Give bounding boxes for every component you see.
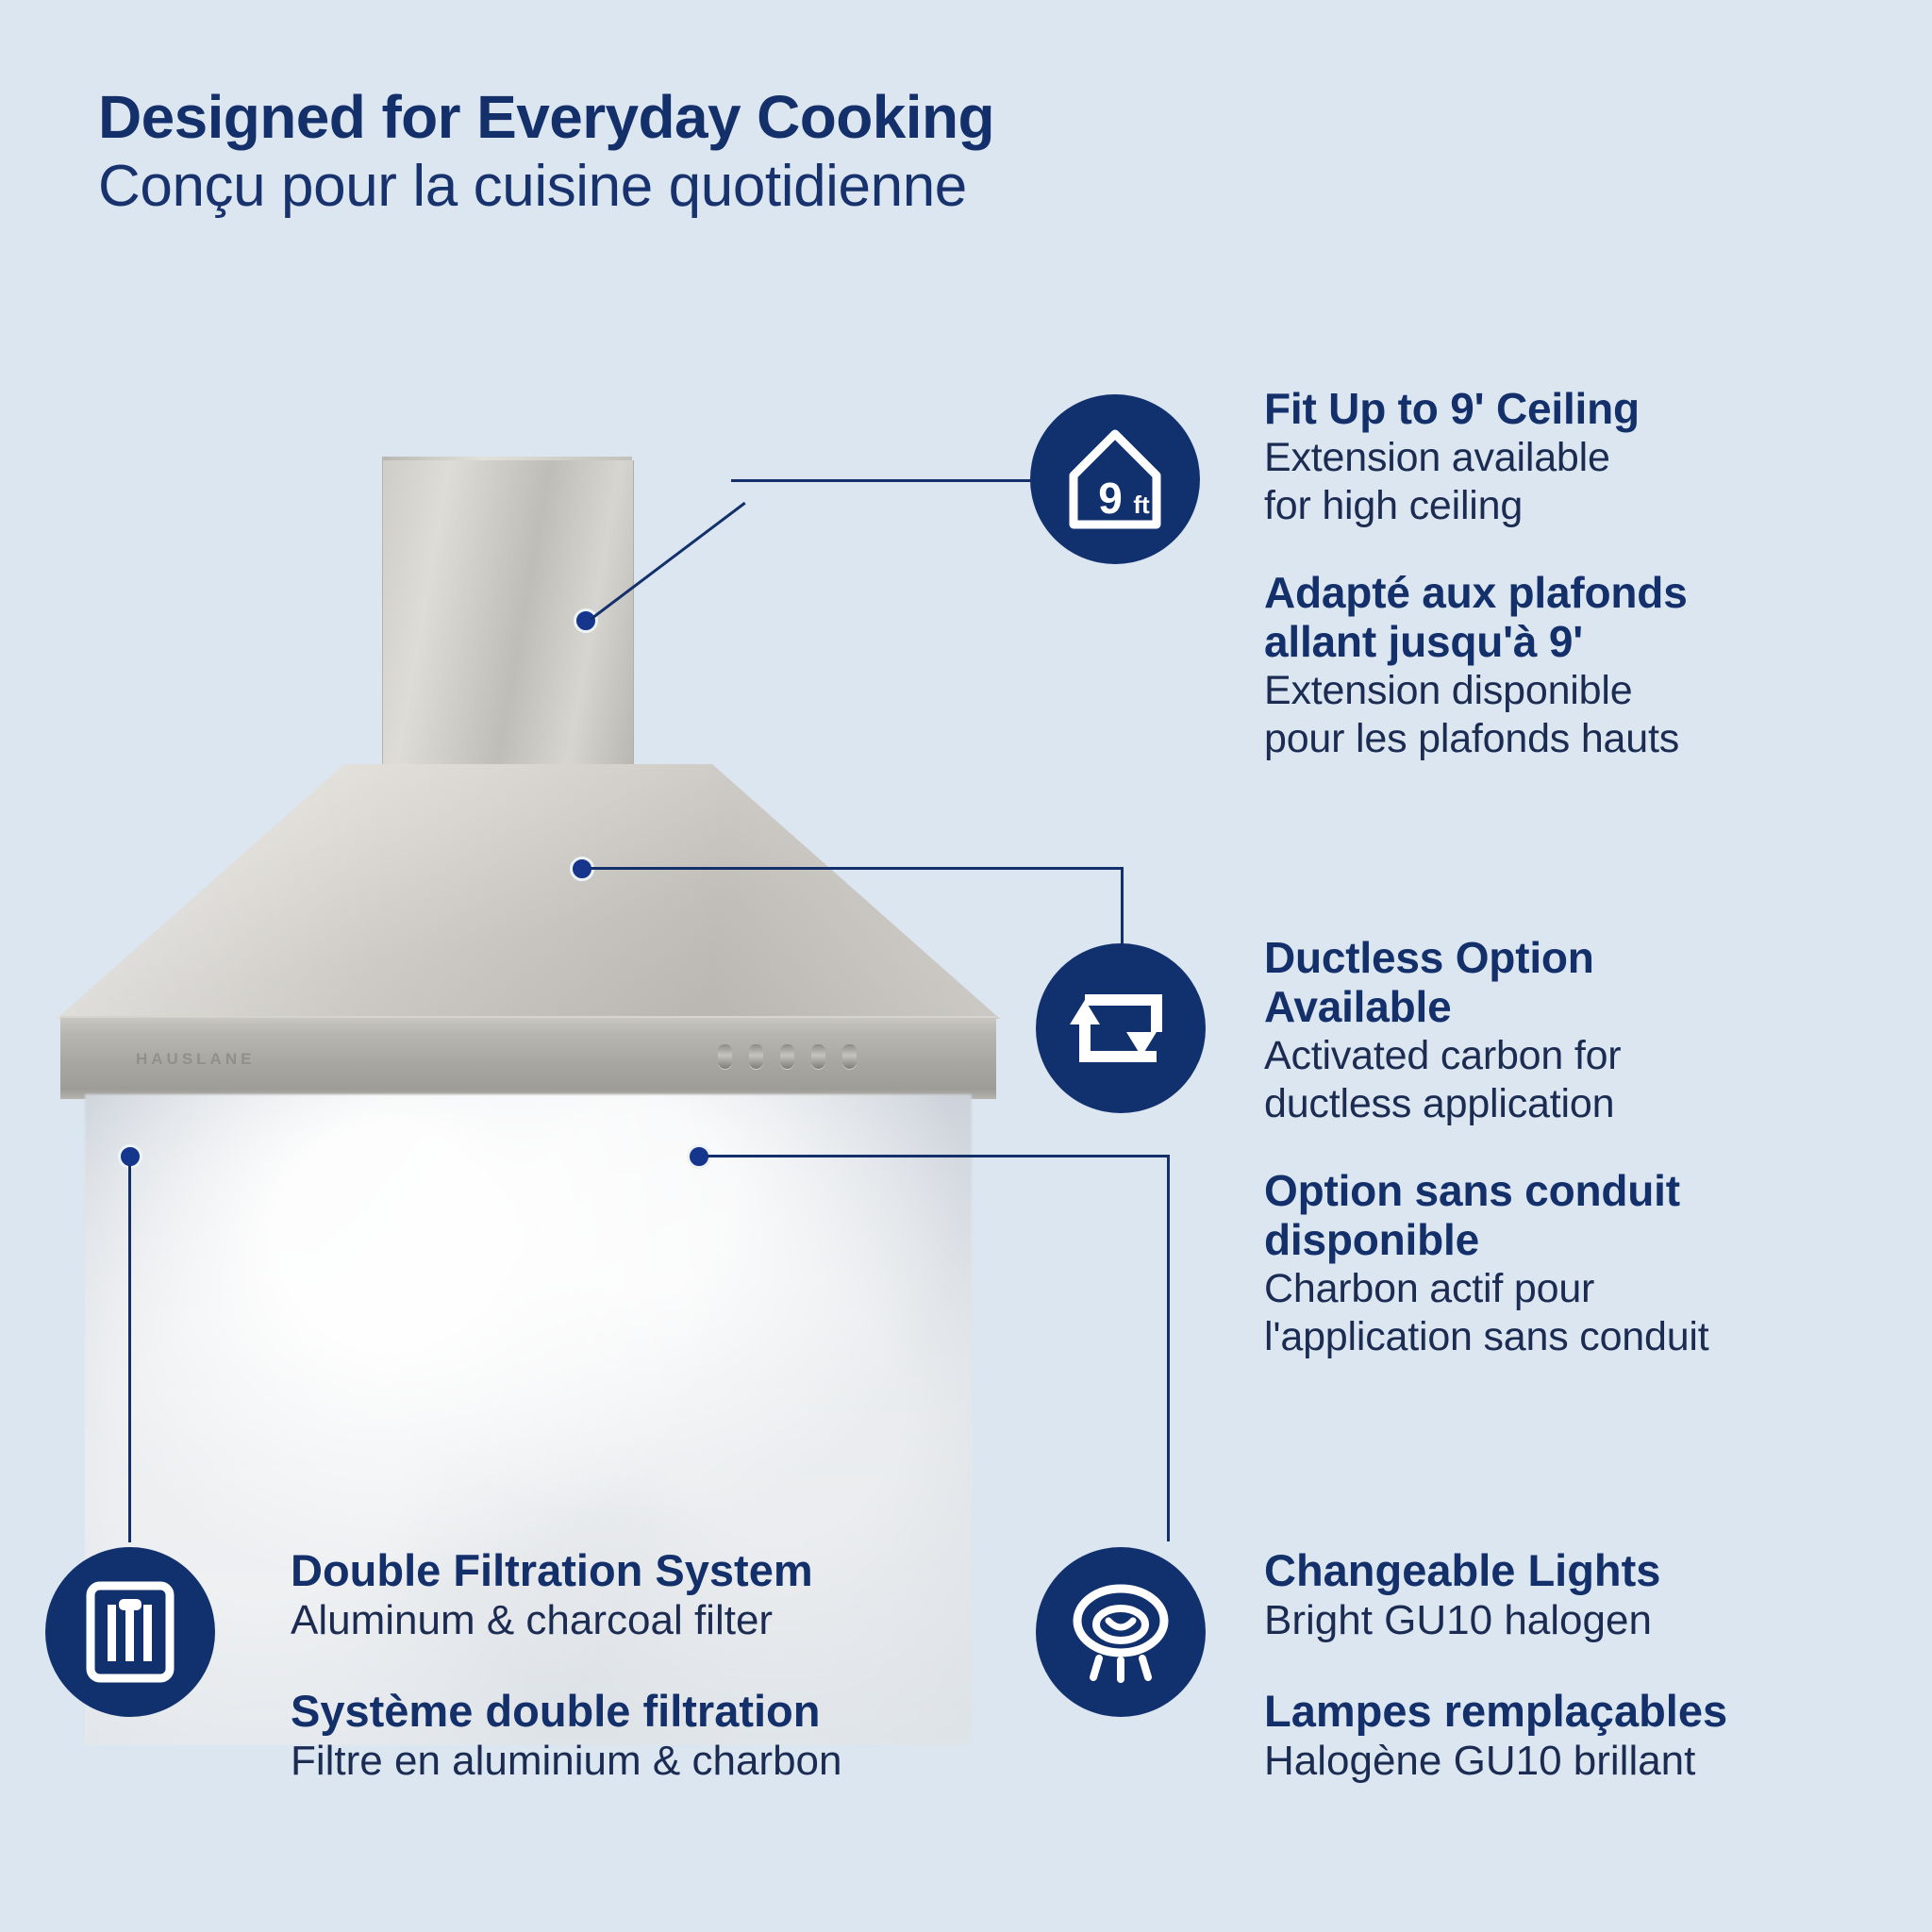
feature-filtration-title-en: Double Filtration System xyxy=(291,1545,1008,1596)
feature-lights: Changeable Lights Bright GU10 halogen La… xyxy=(1264,1545,1924,1787)
feature-ductless-desc-fr-line2: l'application sans conduit xyxy=(1264,1313,1924,1361)
callout-dot-ceiling xyxy=(574,608,598,633)
feature-ceiling: Fit Up to 9' Ceiling Extension available… xyxy=(1264,385,1915,763)
feature-ceiling-title-fr-line2: allant jusqu'à 9' xyxy=(1264,618,1915,667)
feature-lights-desc-en: Bright GU10 halogen xyxy=(1264,1596,1924,1646)
feature-ceiling-desc-fr-line1: Extension disponible xyxy=(1264,667,1915,715)
callout-line-lights-vertical xyxy=(1167,1155,1170,1541)
feature-ductless-title-fr-line2: disponible xyxy=(1264,1216,1924,1265)
feature-filtration-desc-fr: Filtre en aluminium & charbon xyxy=(291,1737,1008,1787)
feature-ceiling-desc-fr-line2: pour les plafonds hauts xyxy=(1264,715,1915,763)
callout-line-ceiling-horizontal xyxy=(731,479,1042,482)
feature-ductless-title-fr-line1: Option sans conduit xyxy=(1264,1167,1924,1216)
callout-line-ductless-horizontal xyxy=(591,867,1124,870)
control-button[interactable] xyxy=(780,1044,794,1069)
feature-lights-title-fr: Lampes remplaçables xyxy=(1264,1686,1924,1737)
canopy-highlight xyxy=(57,764,1000,1019)
feature-filtration: Double Filtration System Aluminum & char… xyxy=(291,1545,1008,1787)
callout-line-filtration-vertical xyxy=(128,1165,131,1542)
control-button-group[interactable] xyxy=(718,1044,857,1069)
feature-ductless: Ductless Option Available Activated carb… xyxy=(1264,934,1924,1361)
control-button[interactable] xyxy=(811,1044,825,1069)
house-icon-number: 9 xyxy=(1098,474,1123,523)
house-icon-unit: ft xyxy=(1133,491,1150,519)
control-button[interactable] xyxy=(718,1044,732,1069)
feature-ductless-desc-en-line2: ductless application xyxy=(1264,1080,1924,1128)
feature-ceiling-title-fr-line1: Adapté aux plafonds xyxy=(1264,569,1915,618)
feature-ductless-desc-fr-line1: Charbon actif pour xyxy=(1264,1265,1924,1313)
brand-logo: HAUSLANE xyxy=(136,1050,255,1069)
page-header: Designed for Everyday Cooking Conçu pour… xyxy=(98,87,1513,220)
control-button[interactable] xyxy=(749,1044,763,1069)
filter-grid-icon xyxy=(45,1547,215,1717)
callout-line-lights-horizontal xyxy=(708,1155,1170,1158)
halogen-bulb-icon xyxy=(1036,1547,1206,1717)
feature-lights-title-en: Changeable Lights xyxy=(1264,1545,1924,1596)
feature-ductless-title-en-line1: Ductless Option xyxy=(1264,934,1924,983)
recirculation-loop-icon xyxy=(1036,943,1206,1113)
page-title-en: Designed for Everyday Cooking xyxy=(98,87,1513,148)
house-9ft-icon: 9 ft xyxy=(1030,394,1200,564)
feature-lights-desc-fr: Halogène GU10 brillant xyxy=(1264,1737,1924,1787)
feature-filtration-desc-en: Aluminum & charcoal filter xyxy=(291,1596,1008,1646)
feature-ductless-title-en-line2: Available xyxy=(1264,983,1924,1032)
feature-ceiling-desc-en-line2: for high ceiling xyxy=(1264,482,1915,530)
control-panel: HAUSLANE xyxy=(60,1016,996,1099)
infographic-canvas: Designed for Everyday Cooking Conçu pour… xyxy=(0,0,1932,1932)
feature-filtration-title-fr: Système double filtration xyxy=(291,1686,1008,1737)
control-button[interactable] xyxy=(842,1044,857,1069)
feature-ceiling-desc-en-line1: Extension available xyxy=(1264,434,1915,482)
page-title-fr: Conçu pour la cuisine quotidienne xyxy=(98,154,1513,219)
feature-ductless-desc-en-line1: Activated carbon for xyxy=(1264,1032,1924,1080)
feature-ceiling-title-en: Fit Up to 9' Ceiling xyxy=(1264,385,1915,434)
